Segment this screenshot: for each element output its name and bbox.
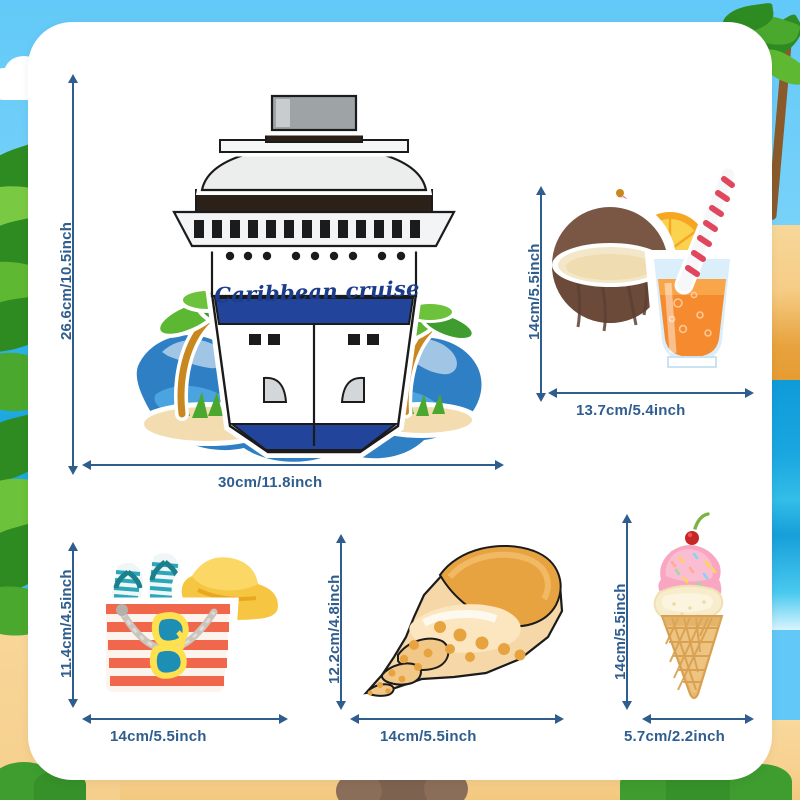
icecream-width-label: 5.7cm/2.2inch bbox=[624, 728, 725, 745]
beach-bag-illustration bbox=[86, 542, 286, 702]
bag-width-arrow bbox=[90, 718, 280, 720]
seashell-height-label: 12.2cm/4.8inch bbox=[326, 574, 343, 684]
ship-width-label: 30cm/11.8inch bbox=[218, 474, 322, 491]
bag-width-label: 14cm/5.5inch bbox=[110, 728, 207, 745]
seashell-illustration bbox=[354, 527, 574, 702]
product-seashell[interactable] bbox=[354, 527, 574, 702]
bag-height-label: 11.4cm/4.5inch bbox=[58, 569, 75, 678]
product-card: Caribbean cruise 26.6cm/10.5inch 30cm/11… bbox=[28, 22, 772, 780]
coconut-height-label: 14cm/5.5inch bbox=[526, 243, 543, 340]
product-coconut-drink[interactable] bbox=[528, 167, 744, 382]
product-beach-bag[interactable] bbox=[86, 542, 286, 702]
ice-cream-illustration bbox=[642, 512, 752, 702]
ship-width-arrow bbox=[90, 464, 496, 466]
seashell-width-arrow bbox=[358, 718, 556, 720]
beach-scene-background: Caribbean cruise 26.6cm/10.5inch 30cm/11… bbox=[0, 0, 800, 800]
coconut-width-label: 13.7cm/5.4inch bbox=[576, 402, 686, 419]
coconut-width-arrow bbox=[556, 392, 746, 394]
product-ice-cream[interactable] bbox=[642, 512, 752, 702]
product-cruise-ship[interactable]: Caribbean cruise bbox=[116, 94, 506, 484]
icecream-width-arrow bbox=[650, 718, 746, 720]
coconut-drink-illustration bbox=[528, 167, 744, 382]
icecream-height-label: 14cm/5.5inch bbox=[612, 583, 629, 680]
ship-height-label: 26.6cm/10.5inch bbox=[58, 222, 75, 340]
seashell-width-label: 14cm/5.5inch bbox=[380, 728, 477, 745]
